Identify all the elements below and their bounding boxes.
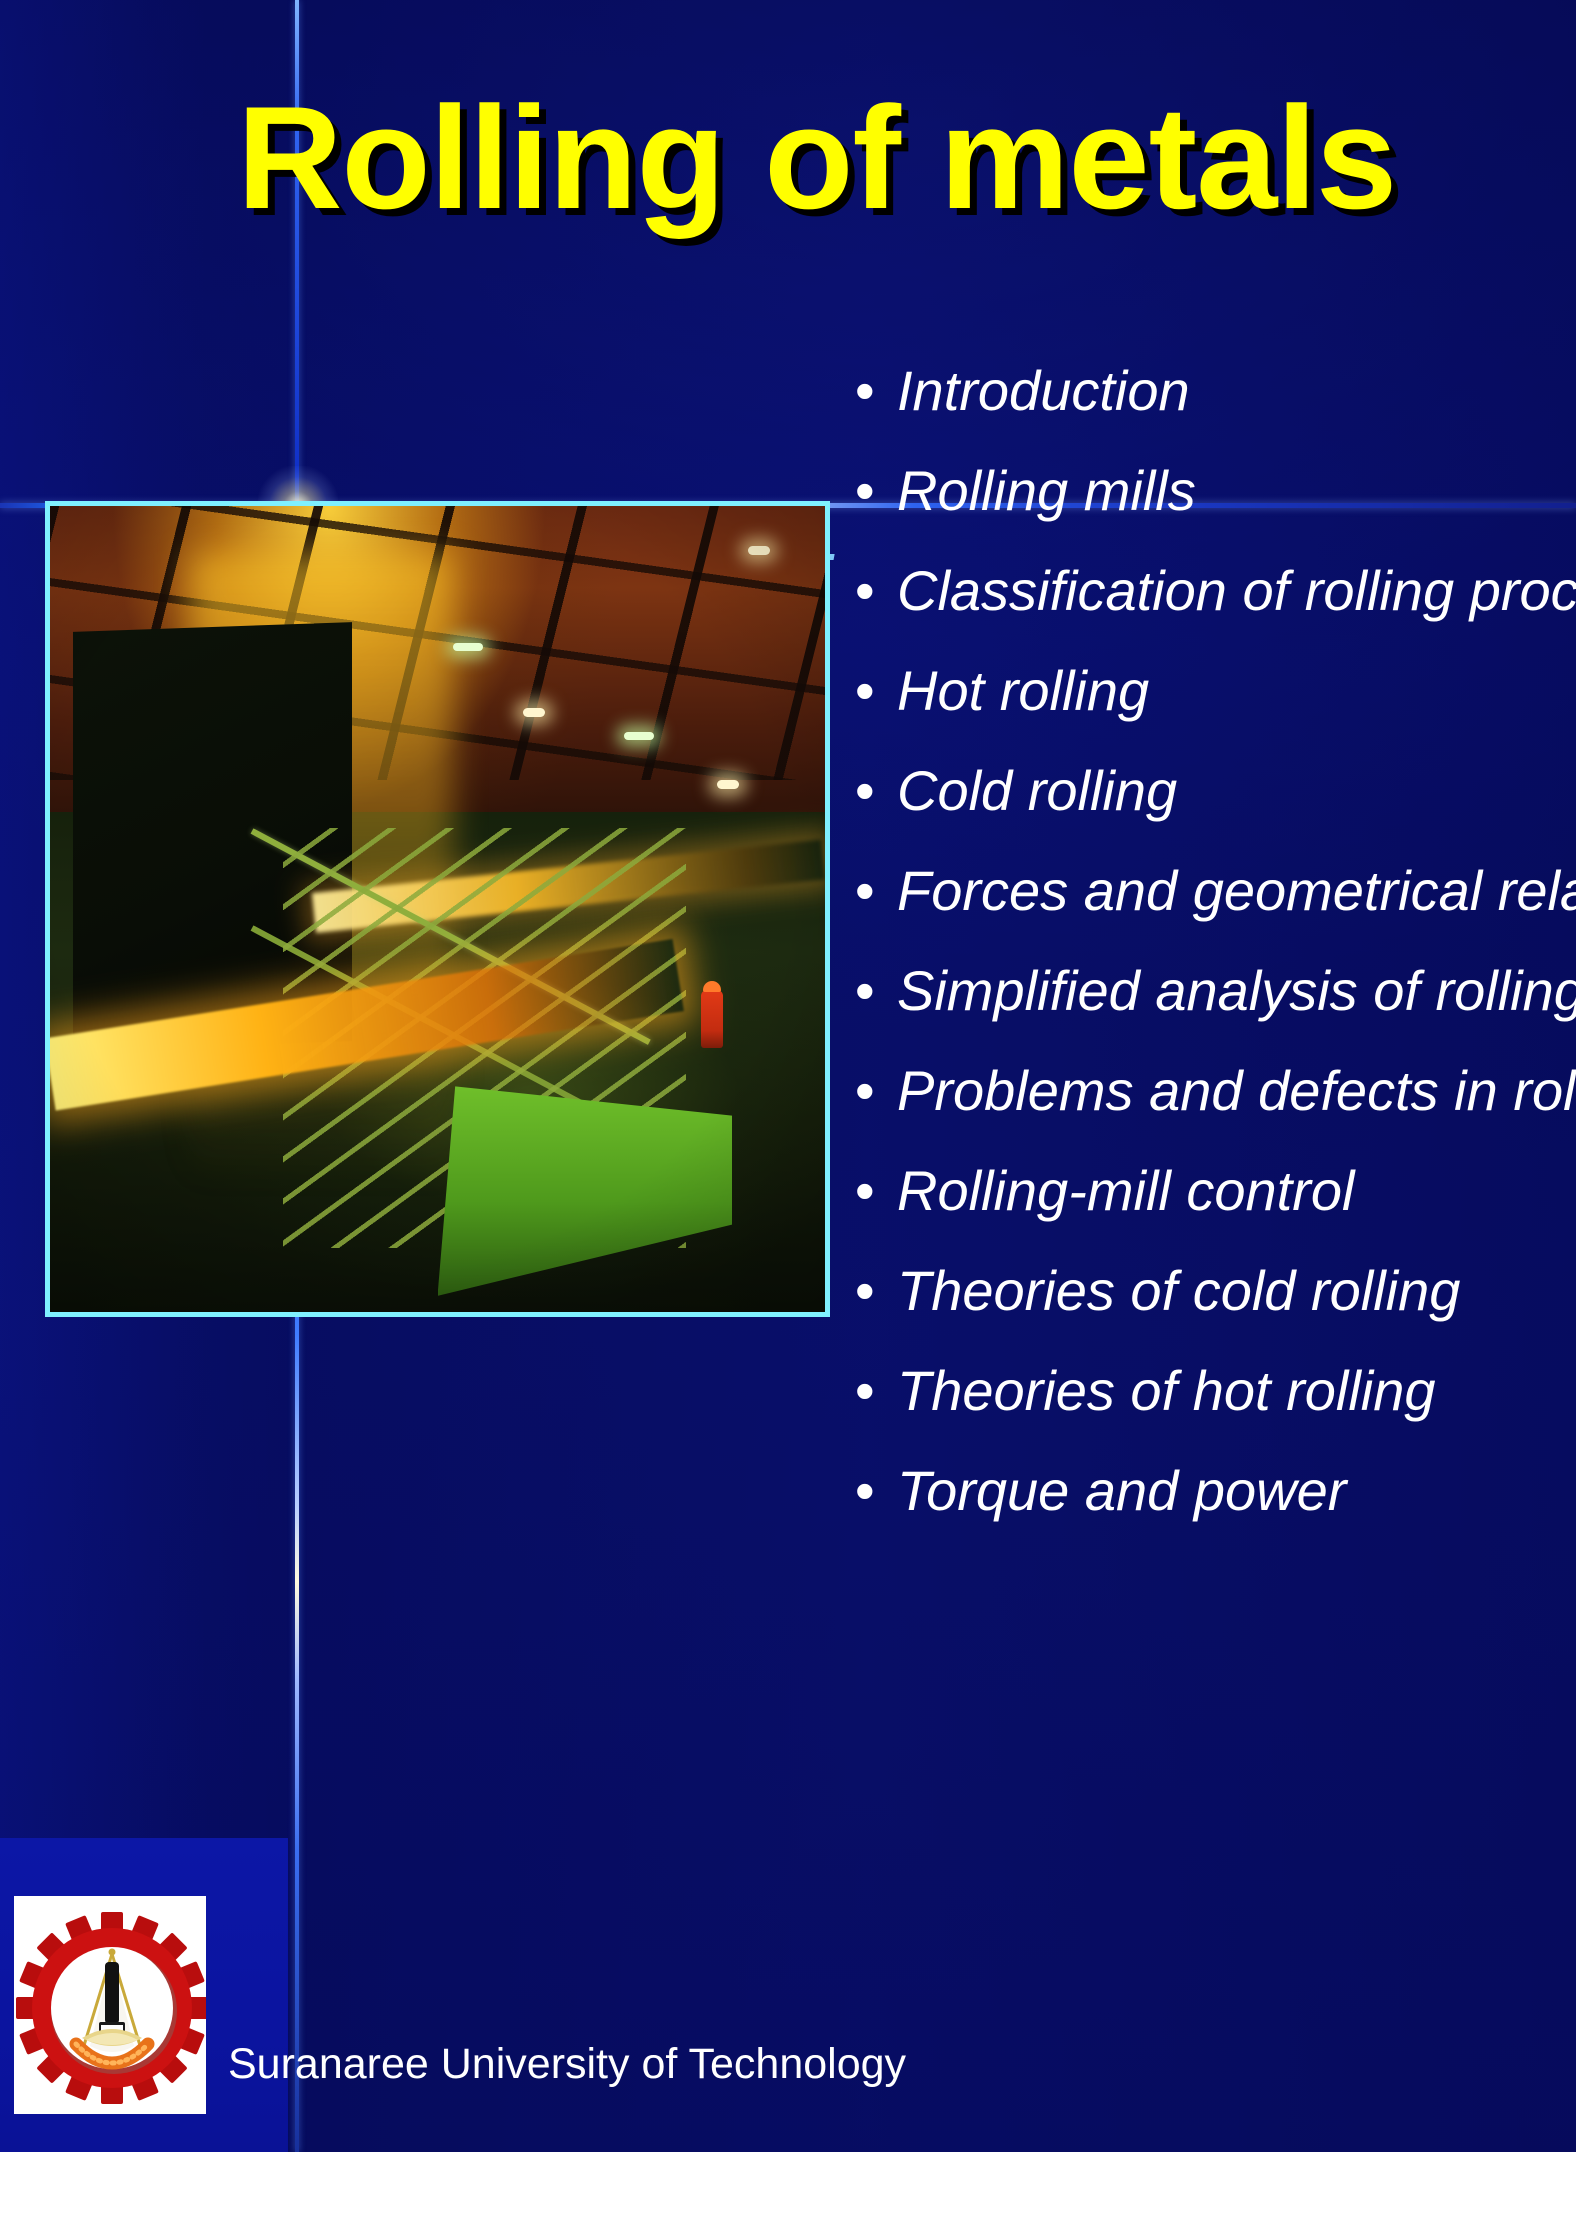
bullet-dot-icon: • [855,863,897,919]
bullet-dot-icon: • [855,563,897,619]
list-item: • Cold rolling [855,763,1576,863]
list-item: • Theories of cold rolling [855,1263,1576,1363]
subjects-list: • Introduction • Rolling mills • Classif… [855,363,1576,1563]
list-item: • Rolling-mill control [855,1163,1576,1263]
bullet-dot-icon: • [855,963,897,1019]
list-item: • Hot rolling [855,663,1576,763]
list-item: • Introduction [855,363,1576,463]
list-item-label: Theories of cold rolling [897,1263,1460,1319]
bullet-dot-icon: • [855,1063,897,1119]
slide-title: Rolling of metals [237,74,1396,242]
bullet-dot-icon: • [855,463,897,519]
bullet-dot-icon: • [855,663,897,719]
list-item-label: Simplified analysis of rolling load [897,963,1576,1019]
photo-canvas [50,506,825,1312]
bullet-dot-icon: • [855,1463,897,1519]
list-item: • Theories of hot rolling [855,1363,1576,1463]
list-item-label: Rolling-mill control [897,1163,1354,1219]
list-item: • Problems and defects in rolled product… [855,1063,1576,1163]
list-item-label: Rolling mills [897,463,1196,519]
list-item: • Torque and power [855,1463,1576,1563]
suranaree-gear-emblem-icon [14,1896,206,2114]
list-item-label: Torque and power [897,1463,1346,1519]
university-logo [14,1896,206,2114]
list-item-label: Introduction [897,363,1190,419]
footer-university-name: Suranaree University of Technology [228,2040,906,2089]
list-item: • Rolling mills [855,463,1576,563]
list-item-label: Hot rolling [897,663,1149,719]
list-item: • Forces and geometrical relationships i… [855,863,1576,963]
bullet-dot-icon: • [855,1363,897,1419]
bullet-dot-icon: • [855,1163,897,1219]
bullet-dot-icon: • [855,363,897,419]
list-item-label: Classification of rolling processes [897,563,1576,619]
list-item: • Classification of rolling processes [855,563,1576,663]
photo-vignette [50,506,825,1312]
list-item-label: Problems and defects in rolled products [897,1063,1576,1119]
list-item-label: Theories of hot rolling [897,1363,1436,1419]
list-item-label: Forces and geometrical relationships in … [897,863,1576,919]
list-item: • Simplified analysis of rolling load [855,963,1576,1063]
bullet-dot-icon: • [855,1263,897,1319]
presentation-slide: Rolling of metals Subjects of interest [0,0,1576,2152]
page-bottom-margin [0,2152,1576,2233]
rolling-mill-photo [45,501,830,1317]
list-item-label: Cold rolling [897,763,1177,819]
bullet-dot-icon: • [855,763,897,819]
